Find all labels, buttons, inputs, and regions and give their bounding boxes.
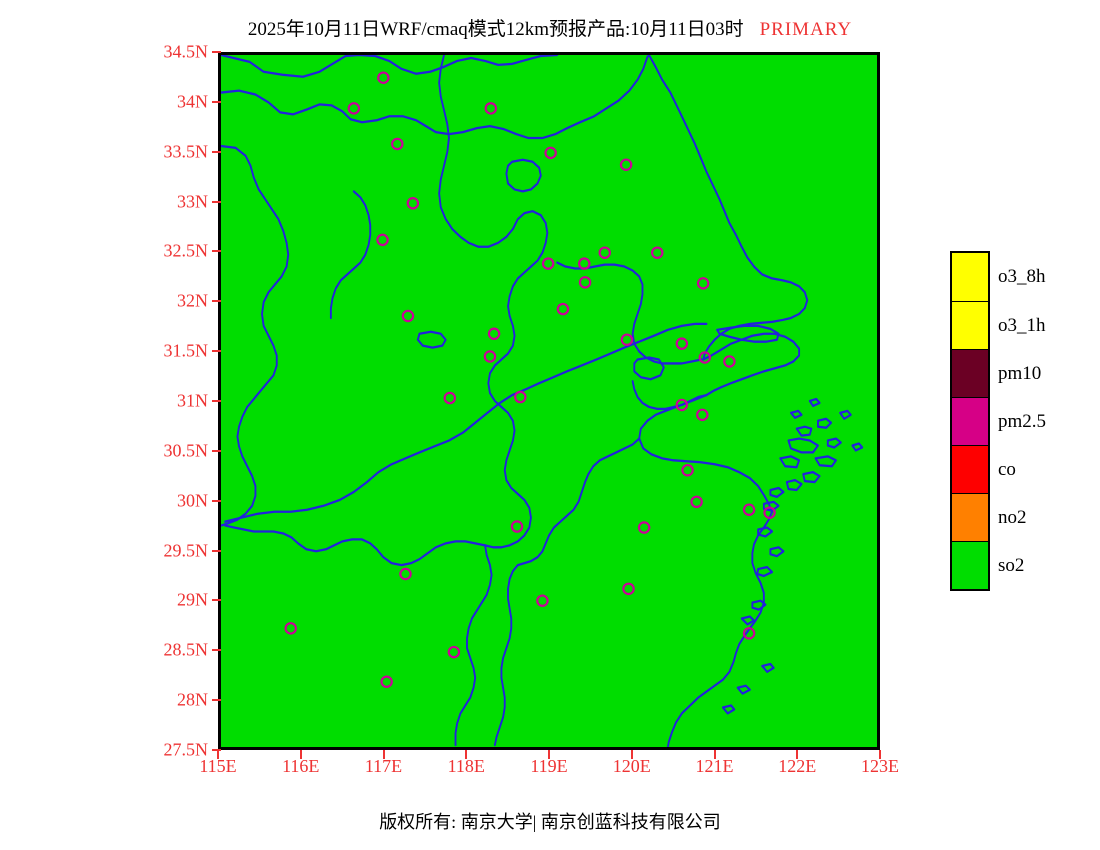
station-marker[interactable]	[377, 235, 387, 245]
border-west-anhui	[221, 146, 288, 526]
station-marker[interactable]	[545, 148, 555, 158]
legend-item-label: o3_8h	[998, 266, 1046, 288]
y-axis-tick-label: 33N	[177, 191, 208, 212]
legend-item-so2[interactable]: so2	[952, 541, 988, 589]
station-marker[interactable]	[652, 248, 662, 258]
y-axis-tick-label: 31N	[177, 391, 208, 412]
station-marker[interactable]	[489, 329, 499, 339]
station-marker[interactable]	[381, 677, 391, 687]
station-marker[interactable]	[392, 139, 402, 149]
x-axis-tick-mark	[796, 750, 798, 759]
legend-item-label: pm2.5	[998, 411, 1046, 433]
y-axis-tick-mark	[212, 699, 221, 701]
border-anhui-jiangsu	[439, 55, 547, 547]
lake-tai	[634, 358, 664, 380]
y-axis	[120, 0, 208, 850]
y-axis-tick-label: 32.5N	[164, 241, 209, 262]
zhoushan-islands	[723, 399, 862, 713]
station-marker[interactable]	[558, 304, 568, 314]
station-marker[interactable]	[445, 393, 455, 403]
border-zhejiang-jiangxi	[456, 545, 492, 745]
title-primary-badge: PRIMARY	[760, 19, 853, 40]
y-axis-tick-mark	[212, 51, 221, 53]
x-axis-tick-label: 120E	[613, 756, 651, 777]
border-anhui-west-inner	[331, 191, 370, 318]
y-axis-tick-label: 28N	[177, 690, 208, 711]
x-axis-tick-label: 115E	[199, 756, 236, 777]
station-marker[interactable]	[543, 258, 553, 268]
legend[interactable]: o3_8ho3_1hpm10pm2.5cono2so2	[950, 251, 990, 591]
station-marker[interactable]	[600, 248, 610, 258]
y-axis-tick-label: 29.5N	[164, 540, 209, 561]
river-yangtze	[225, 324, 706, 522]
border-taihu-shanghai	[633, 381, 707, 409]
station-marker[interactable]	[485, 351, 495, 361]
y-axis-tick-mark	[212, 250, 221, 252]
x-axis-tick-mark	[383, 750, 385, 759]
x-axis-tick-mark	[465, 750, 467, 759]
legend-item-co[interactable]: co	[952, 445, 988, 493]
station-marker[interactable]	[537, 596, 547, 606]
border-north	[221, 55, 557, 77]
station-marker[interactable]	[623, 584, 633, 594]
x-axis-tick-label: 122E	[778, 756, 816, 777]
legend-item-label: no2	[998, 507, 1027, 529]
station-marker[interactable]	[579, 258, 589, 268]
coast-hangzhou-bay	[639, 395, 772, 512]
station-marker[interactable]	[512, 521, 522, 531]
x-axis-tick-label: 119E	[530, 756, 567, 777]
legend-item-label: co	[998, 459, 1016, 481]
y-axis-tick-label: 31.5N	[164, 341, 209, 362]
y-axis-tick-mark	[212, 101, 221, 103]
x-axis-tick-mark	[548, 750, 550, 759]
x-axis-tick-mark	[217, 750, 219, 759]
station-marker[interactable]	[698, 278, 708, 288]
y-axis-tick-label: 34N	[177, 91, 208, 112]
y-axis-tick-label: 34.5N	[164, 42, 209, 63]
coast-zhejiang	[668, 512, 772, 747]
map-plot-area[interactable]	[218, 52, 880, 750]
station-marker[interactable]	[639, 522, 649, 532]
legend-item-o3-8h[interactable]: o3_8h	[952, 253, 988, 301]
station-marker[interactable]	[621, 160, 631, 170]
station-marker[interactable]	[744, 505, 754, 515]
y-axis-tick-label: 32N	[177, 291, 208, 312]
lake-hongze	[506, 160, 540, 192]
y-axis-tick-mark	[212, 450, 221, 452]
station-marker[interactable]	[400, 569, 410, 579]
x-axis-tick-label: 123E	[861, 756, 899, 777]
station-marker[interactable]	[378, 73, 388, 83]
y-axis-tick-mark	[212, 599, 221, 601]
x-axis-tick-mark	[300, 750, 302, 759]
station-marker[interactable]	[403, 311, 413, 321]
y-axis-tick-mark	[212, 201, 221, 203]
x-axis-tick-mark	[879, 750, 881, 759]
station-marker[interactable]	[682, 465, 692, 475]
station-marker[interactable]	[486, 103, 496, 113]
station-marker[interactable]	[724, 356, 734, 366]
x-axis-tick-label: 116E	[282, 756, 319, 777]
x-axis-tick-label: 118E	[448, 756, 485, 777]
station-marker[interactable]	[349, 103, 359, 113]
copyright-footer: 版权所有: 南京大学| 南京创蓝科技有限公司	[0, 808, 1100, 834]
station-marker[interactable]	[515, 392, 525, 402]
x-axis-tick-mark	[631, 750, 633, 759]
x-axis-tick-label: 121E	[696, 756, 734, 777]
station-marker[interactable]	[580, 277, 590, 287]
y-axis-tick-label: 33.5N	[164, 141, 209, 162]
y-axis-tick-label: 29N	[177, 590, 208, 611]
legend-item-o3-1h[interactable]: o3_1h	[952, 301, 988, 349]
legend-item-label: pm10	[998, 363, 1041, 385]
x-axis-tick-label: 117E	[365, 756, 402, 777]
y-axis-tick-mark	[212, 350, 221, 352]
map-canvas	[221, 55, 877, 747]
station-marker[interactable]	[691, 497, 701, 507]
border-south-anhui	[225, 526, 485, 566]
station-marker-layer	[286, 73, 775, 687]
station-marker[interactable]	[697, 410, 707, 420]
title-main-text: 2025年10月11日WRF/cmaq模式12km预报产品:10月11日03时	[248, 19, 744, 40]
y-axis-tick-label: 28.5N	[164, 640, 209, 661]
legend-item-pm2-5[interactable]: pm2.5	[952, 397, 988, 445]
y-axis-tick-mark	[212, 649, 221, 651]
legend-item-no2[interactable]: no2	[952, 493, 988, 541]
y-axis-tick-mark	[212, 400, 221, 402]
y-axis-tick-mark	[212, 151, 221, 153]
legend-item-label: o3_1h	[998, 315, 1046, 337]
y-axis-tick-label: 30.5N	[164, 440, 209, 461]
station-marker[interactable]	[622, 335, 632, 345]
station-marker[interactable]	[408, 198, 418, 208]
lake-chao	[418, 332, 446, 348]
x-axis-tick-mark	[714, 750, 716, 759]
border-zhejiang-inner	[495, 439, 639, 745]
station-marker[interactable]	[286, 623, 296, 633]
coast-yangtze-estuary	[703, 334, 799, 395]
border-shandong-jiangsu	[221, 55, 649, 138]
y-axis-tick-mark	[212, 500, 221, 502]
y-axis-tick-label: 30N	[177, 490, 208, 511]
station-marker[interactable]	[677, 339, 687, 349]
station-marker[interactable]	[449, 647, 459, 657]
legend-item-pm10[interactable]: pm10	[952, 349, 988, 397]
y-axis-tick-mark	[212, 550, 221, 552]
y-axis-tick-mark	[212, 300, 221, 302]
legend-item-label: so2	[998, 555, 1024, 577]
coast-jiangsu	[649, 55, 807, 359]
